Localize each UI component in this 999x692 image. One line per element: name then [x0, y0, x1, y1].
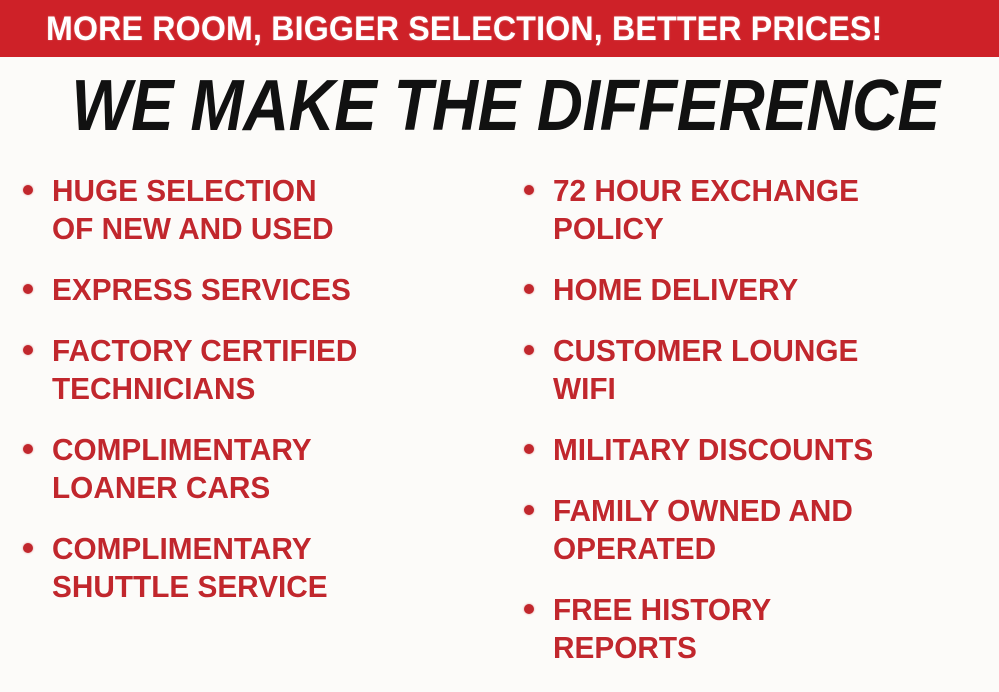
list-item-label: CUSTOMER LOUNGE WIFI — [553, 332, 999, 408]
bullet-dot-icon — [524, 505, 534, 515]
list-item-label: HOME DELIVERY — [553, 271, 999, 309]
list-item: FACTORY CERTIFIED TECHNICIANS — [14, 332, 532, 408]
list-item: CUSTOMER LOUNGE WIFI — [515, 332, 999, 408]
promo-bar: MORE ROOM, BIGGER SELECTION, BETTER PRIC… — [0, 0, 999, 57]
bullet-dot-icon — [23, 284, 33, 294]
promo-bar-text: MORE ROOM, BIGGER SELECTION, BETTER PRIC… — [46, 12, 882, 46]
bullet-dot-icon — [23, 345, 33, 355]
list-item-label: MILITARY DISCOUNTS — [553, 431, 999, 469]
list-item-label: EXPRESS SERVICES — [52, 271, 513, 309]
list-item-label: FREE HISTORY REPORTS — [553, 591, 999, 667]
list-item-label: 72 HOUR EXCHANGE POLICY — [553, 172, 999, 248]
list-item-label: COMPLIMENTARY LOANER CARS — [52, 431, 513, 507]
list-item: COMPLIMENTARY LOANER CARS — [14, 431, 532, 507]
list-item-label: FAMILY OWNED AND OPERATED — [553, 492, 999, 568]
bullet-dot-icon — [524, 345, 534, 355]
list-item: FAMILY OWNED AND OPERATED — [515, 492, 999, 568]
list-item: FREE HISTORY REPORTS — [515, 591, 999, 667]
headline-text: WE MAKE THE DIFFERENCE — [71, 70, 939, 142]
headline: WE MAKE THE DIFFERENCE — [100, 68, 910, 144]
bullet-dot-icon — [23, 185, 33, 195]
list-item: COMPLIMENTARY SHUTTLE SERVICE — [14, 530, 532, 606]
bullet-dot-icon — [524, 284, 534, 294]
bullet-dot-icon — [524, 444, 534, 454]
list-item: 72 HOUR EXCHANGE POLICY — [515, 172, 999, 248]
list-item-label: HUGE SELECTION OF NEW AND USED — [52, 172, 513, 248]
list-item: HUGE SELECTION OF NEW AND USED — [14, 172, 532, 248]
feature-columns: HUGE SELECTION OF NEW AND USED EXPRESS S… — [0, 160, 999, 692]
promotional-banner: MORE ROOM, BIGGER SELECTION, BETTER PRIC… — [0, 0, 999, 692]
list-item: MILITARY DISCOUNTS — [515, 431, 999, 469]
bullet-dot-icon — [23, 543, 33, 553]
bullet-dot-icon — [524, 185, 534, 195]
list-item: HOME DELIVERY — [515, 271, 999, 309]
bullet-dot-icon — [23, 444, 33, 454]
list-item-label: FACTORY CERTIFIED TECHNICIANS — [52, 332, 513, 408]
list-item-label: COMPLIMENTARY SHUTTLE SERVICE — [52, 530, 513, 606]
list-item: EXPRESS SERVICES — [14, 271, 532, 309]
bullet-dot-icon — [524, 604, 534, 614]
